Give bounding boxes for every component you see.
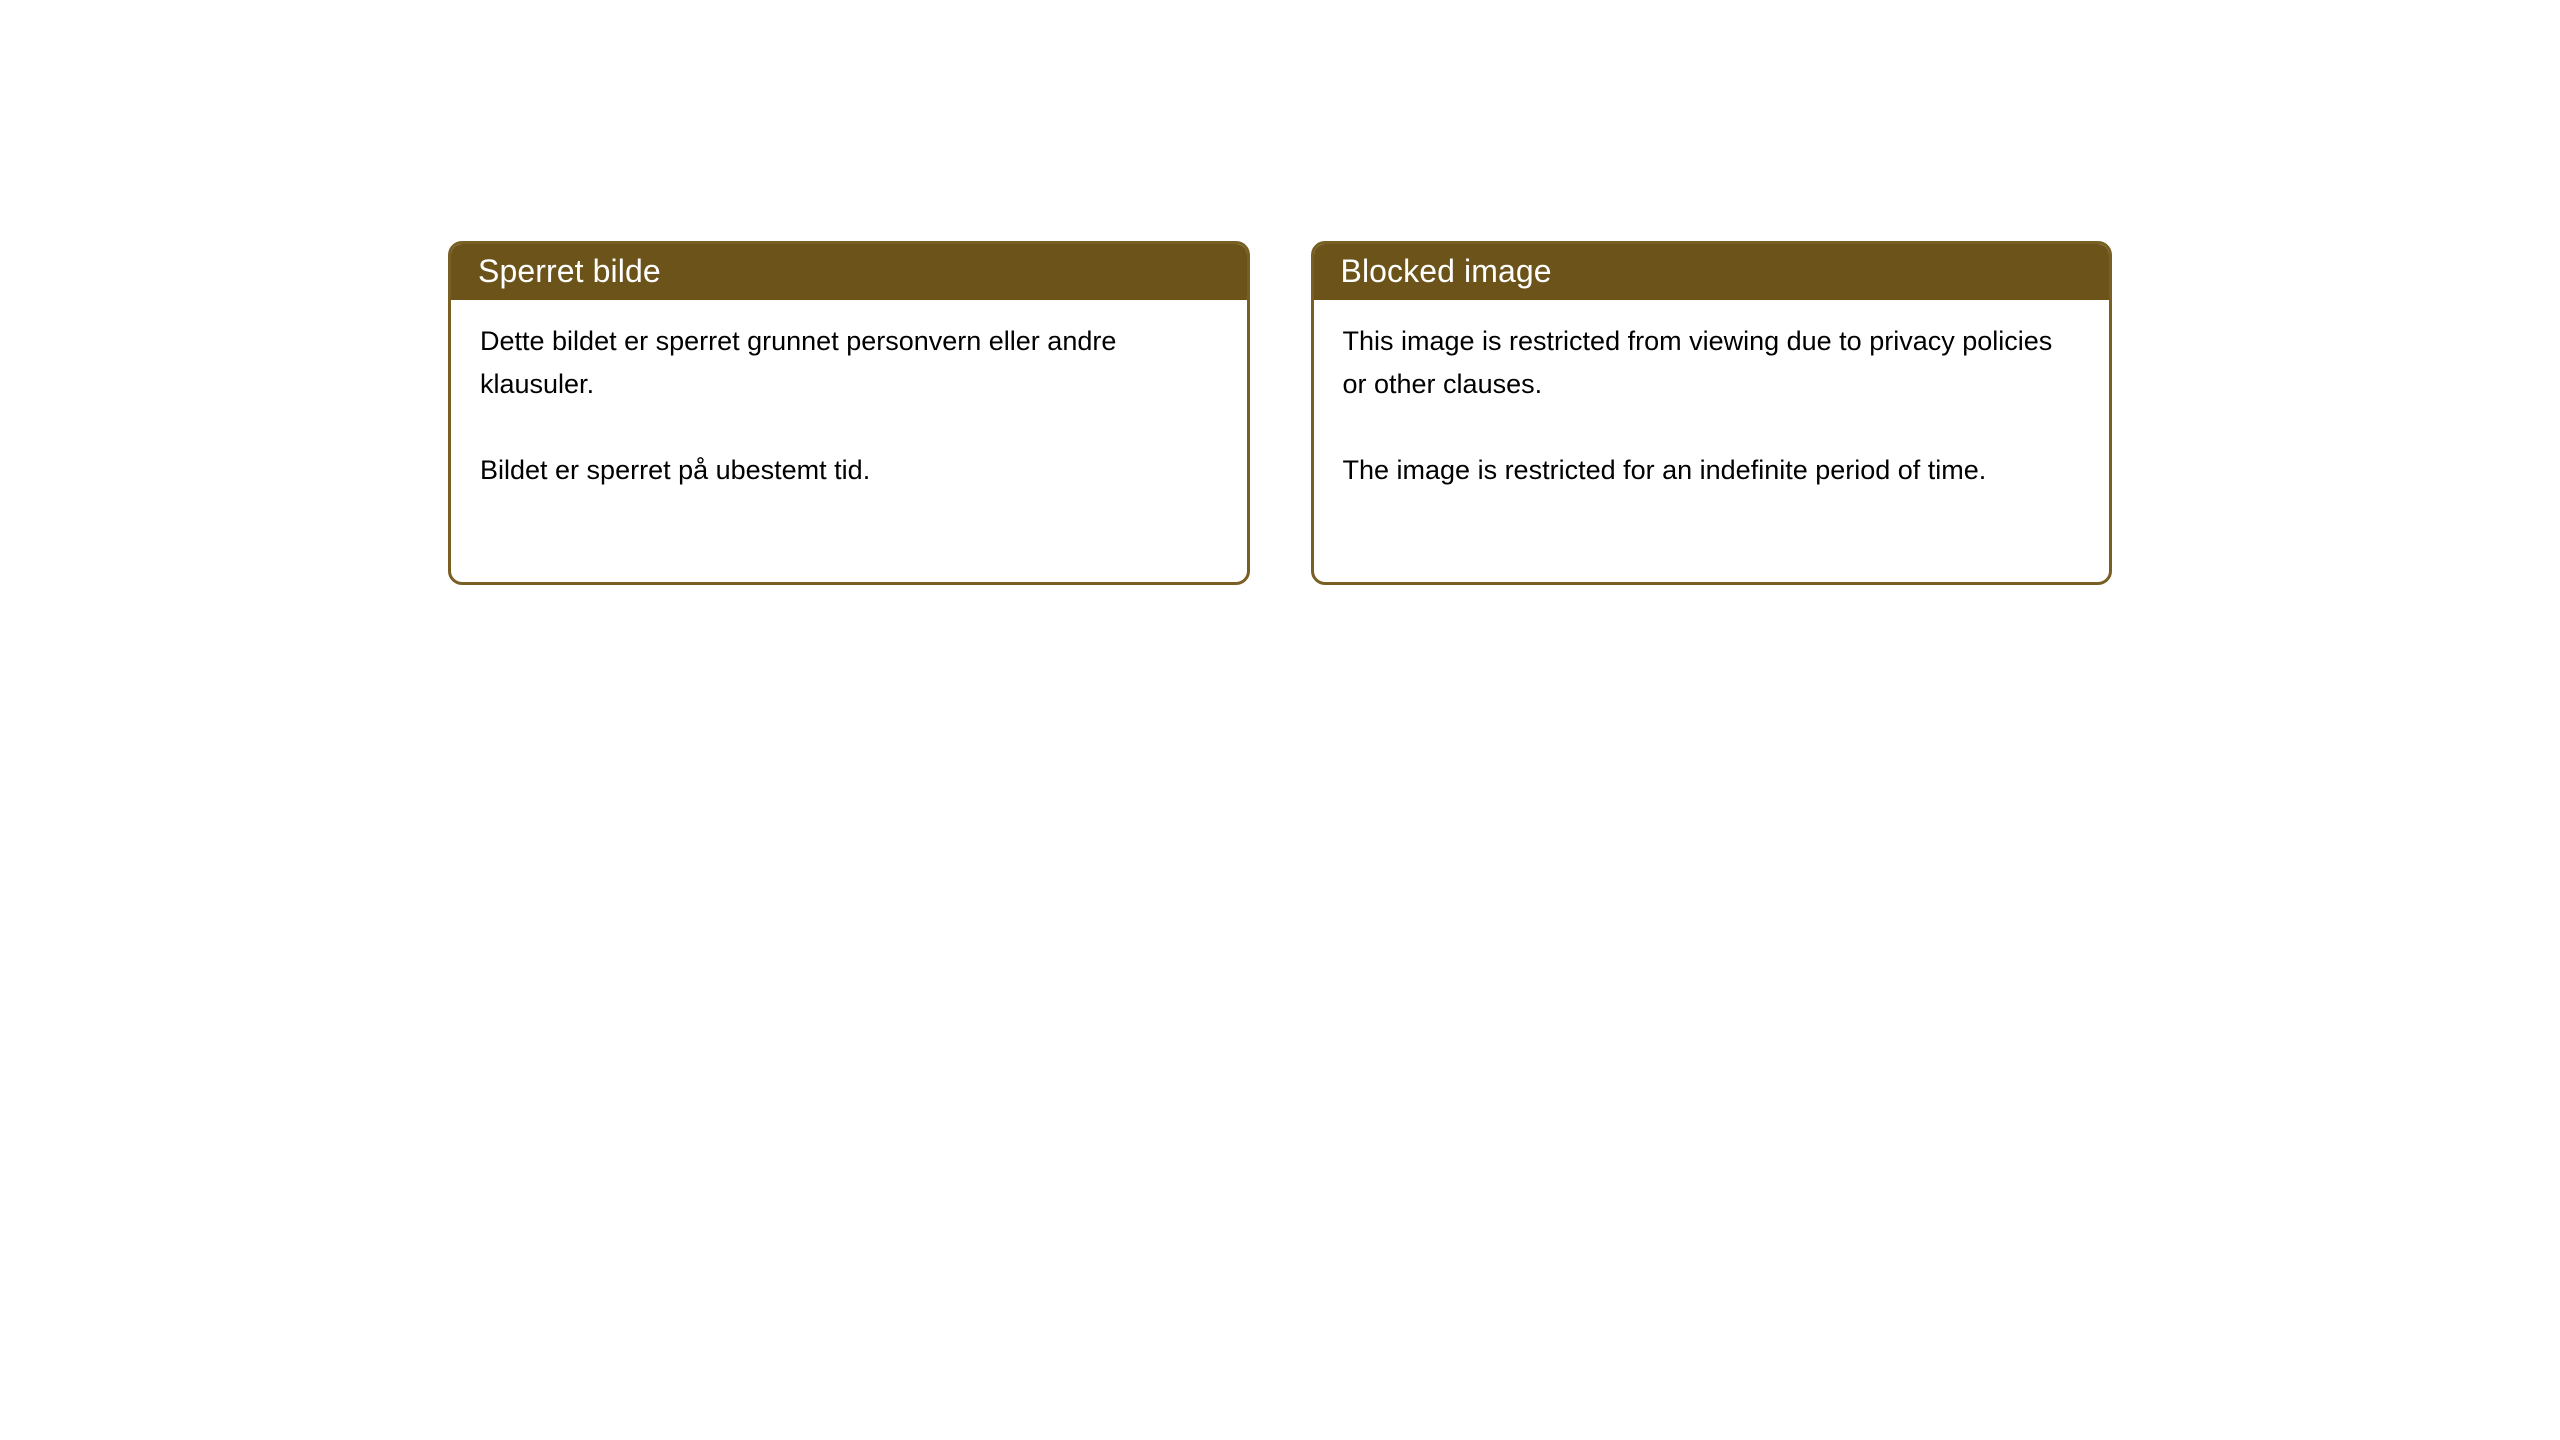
card-header-english: Blocked image [1311,241,2113,300]
blocked-image-notice-group: Sperret bilde Dette bildet er sperret gr… [448,241,2112,585]
card-body-norwegian: Dette bildet er sperret grunnet personve… [451,300,1247,582]
card-body-english: This image is restricted from viewing du… [1314,300,2110,582]
card-header-norwegian: Sperret bilde [448,241,1250,300]
card-title-english: Blocked image [1341,254,1552,288]
card-paragraph-primary-english: This image is restricted from viewing du… [1343,320,2083,406]
card-paragraph-secondary-english: The image is restricted for an indefinit… [1343,449,2083,492]
paragraph-spacer [1343,406,2084,449]
card-title-norwegian: Sperret bilde [478,254,661,288]
paragraph-spacer [480,406,1221,449]
card-paragraph-primary-norwegian: Dette bildet er sperret grunnet personve… [480,320,1220,406]
blocked-image-card-english: Blocked image This image is restricted f… [1311,241,2113,585]
card-paragraph-secondary-norwegian: Bildet er sperret på ubestemt tid. [480,449,1220,492]
blocked-image-card-norwegian: Sperret bilde Dette bildet er sperret gr… [448,241,1250,585]
